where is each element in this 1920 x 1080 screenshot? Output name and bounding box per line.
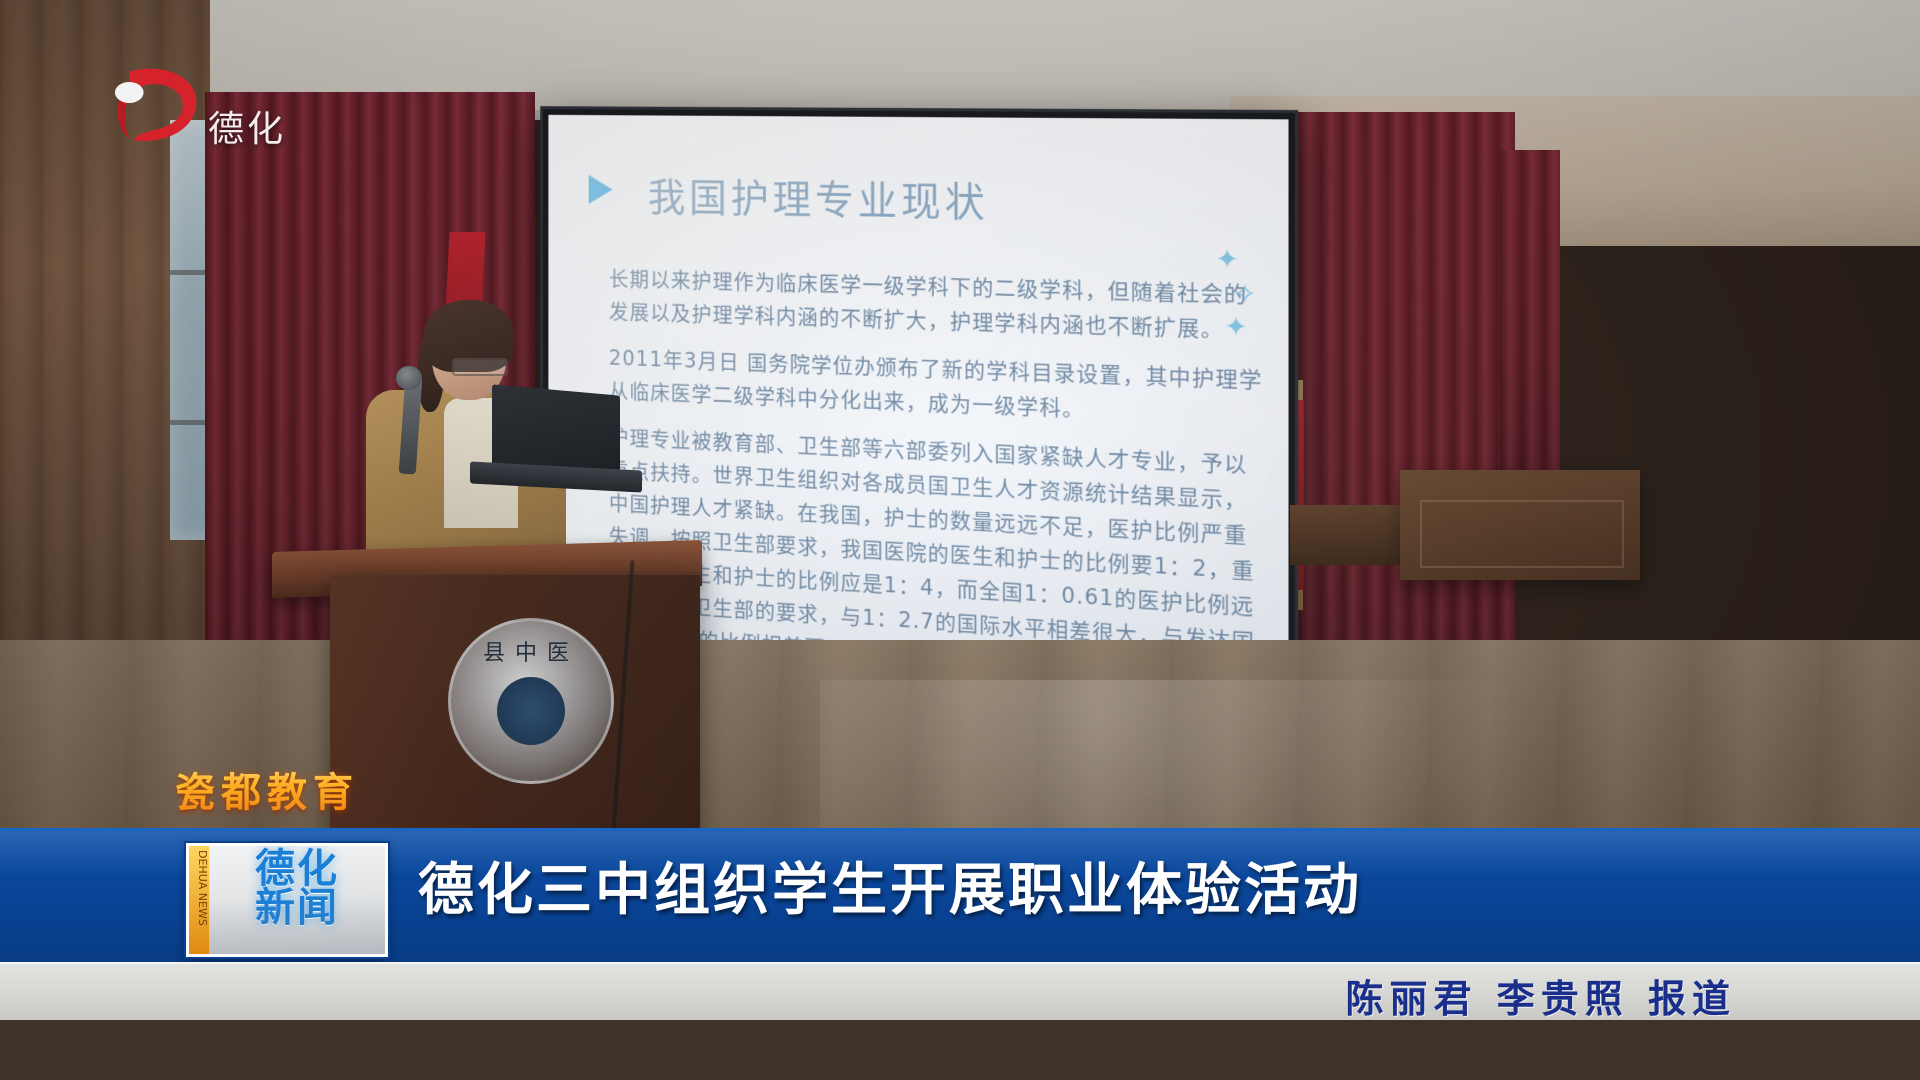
podium-emblem-core xyxy=(497,677,565,745)
slide-paragraph: 长期以来护理作为临床医学一级学科下的二级学科，但随着社会的发展以及护理学科内涵的… xyxy=(609,262,1265,348)
station-logo-text: 德化 xyxy=(208,100,286,152)
letterbox xyxy=(0,1020,1920,1080)
program-logo-stripe-text: DEHUA NEWS xyxy=(190,850,208,926)
broadcast-frame: 我国护理专业现状 长期以来护理作为临床医学一级学科下的二级学科，但随着社会的发展… xyxy=(0,0,1920,1080)
program-logo-side-stripe: DEHUA NEWS xyxy=(189,846,210,954)
sparkle-icon: ✦ ✧ ✦ xyxy=(1216,243,1257,345)
program-category-label: 瓷都教育 xyxy=(175,760,359,818)
station-logo: 德化 xyxy=(100,52,310,152)
slide-paragraph: 2011年3月日 国务院学位办颁布了新的学科目录设置，其中护理学从临床医学二级学… xyxy=(609,341,1265,433)
side-table-panel xyxy=(1420,500,1624,568)
speaker-glasses xyxy=(452,358,508,376)
program-logo-gloss xyxy=(209,900,385,954)
slide-body: 长期以来护理作为临床医学一级学科下的二级学科，但随着社会的发展以及护理学科内涵的… xyxy=(609,262,1265,691)
hospital-seal-icon: 县中医 xyxy=(448,618,614,784)
microphone-head xyxy=(396,366,422,390)
reporter-credits: 陈丽君 李贵照 报道 xyxy=(1346,968,1736,1023)
dehua-tv-d-logo-icon xyxy=(108,60,204,146)
slide-title: 我国护理专业现状 xyxy=(648,166,989,229)
podium-emblem-text: 县中医 xyxy=(451,635,611,667)
program-logo-box: DEHUA NEWS 德化 新闻 xyxy=(186,843,388,957)
news-headline: 德化三中组织学生开展职业体验活动 xyxy=(418,845,1362,926)
blue-triangle-bullet-icon xyxy=(589,175,613,204)
